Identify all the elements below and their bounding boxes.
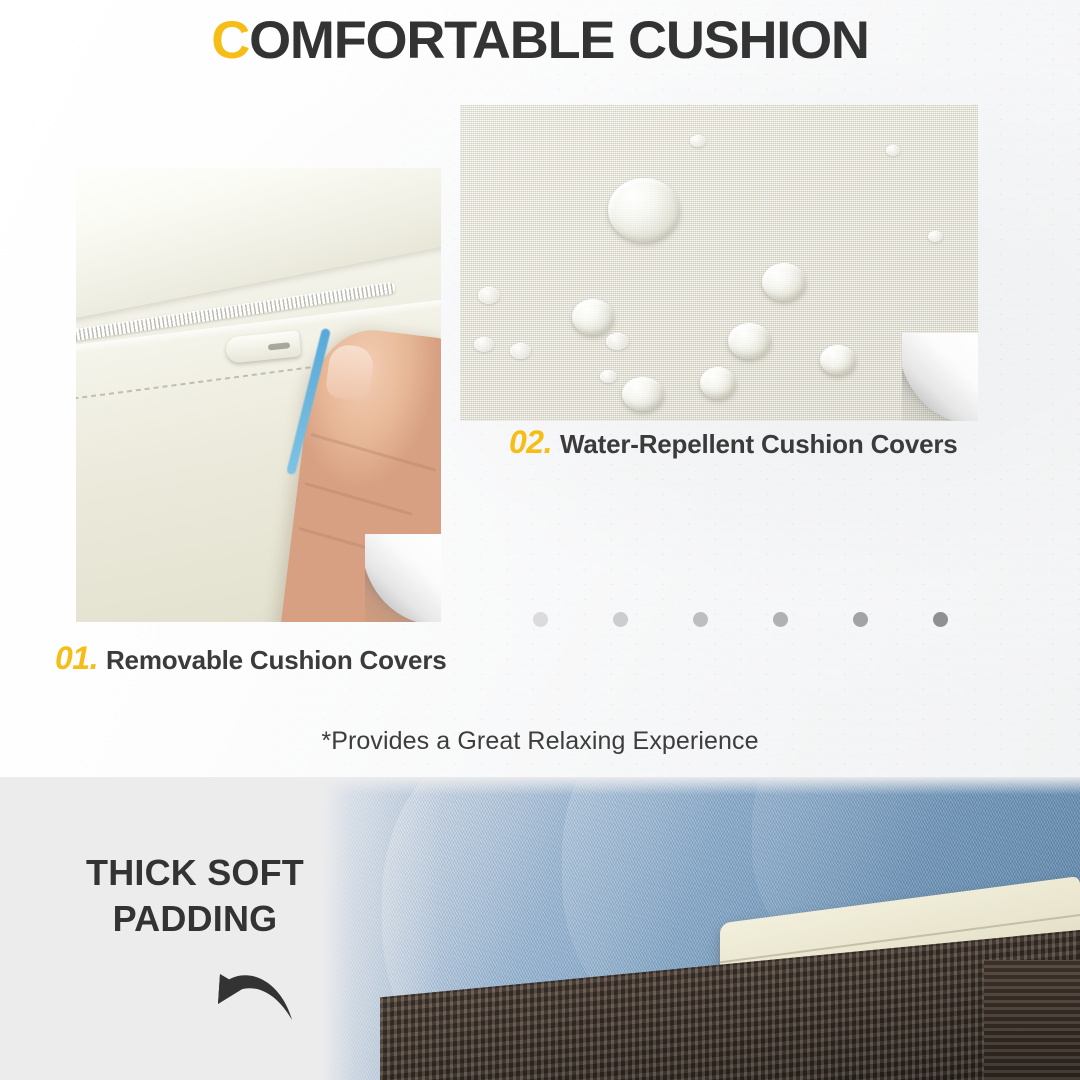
bottom-title-line-1: THICK SOFT <box>86 852 304 893</box>
water-droplet-small <box>690 135 706 147</box>
progress-dot <box>933 612 948 627</box>
denim-top-fade <box>322 777 1080 795</box>
hand-crease <box>310 433 436 472</box>
progress-dot <box>533 612 548 627</box>
hand-crease <box>299 527 392 556</box>
lifestyle-image-thick-padding <box>322 777 1080 1080</box>
water-droplet <box>728 323 771 359</box>
water-droplet-small <box>600 370 617 383</box>
water-droplet-small <box>886 145 900 156</box>
feature-image-water-repellent <box>460 105 978 421</box>
progress-dot <box>613 612 628 627</box>
progress-dots <box>533 612 953 630</box>
water-droplet <box>820 345 856 375</box>
water-droplet-small <box>510 343 531 359</box>
bottom-feature-section: THICK SOFT PADDING <box>0 777 1080 1080</box>
curved-arrow-icon <box>196 962 306 1032</box>
water-droplet-small <box>474 337 494 352</box>
progress-dot <box>693 612 708 627</box>
feature-caption-02: 02.Water-Repellent Cushion Covers <box>509 424 958 461</box>
water-droplet-small <box>478 287 500 304</box>
feature-number-01: 01. <box>55 640 98 676</box>
bottom-title: THICK SOFT PADDING <box>40 850 350 942</box>
page-title: COMFORTABLE CUSHION <box>0 14 1080 67</box>
thumbnail-detail <box>325 343 375 402</box>
water-droplet <box>700 367 736 399</box>
feature-image-removable-cover <box>76 168 441 622</box>
subnote-text: *Provides a Great Relaxing Experience <box>0 727 1080 756</box>
page-title-rest: OMFORTABLE CUSHION <box>249 11 869 70</box>
progress-dot <box>773 612 788 627</box>
top-feature-section: COMFORTABLE CUSHION <box>0 0 1080 777</box>
rattan-ottoman-side <box>984 960 1080 1080</box>
water-droplet <box>608 178 680 242</box>
hand-crease <box>304 482 412 516</box>
progress-dot <box>853 612 868 627</box>
water-droplet-small <box>942 377 959 389</box>
water-droplet <box>572 299 614 335</box>
bottom-title-line-2: PADDING <box>113 898 278 939</box>
feature-label-01: Removable Cushion Covers <box>106 645 447 675</box>
water-droplet-small <box>928 231 943 242</box>
water-droplet-small <box>606 333 629 350</box>
feature-number-02: 02. <box>509 424 552 460</box>
page-title-accent-letter: C <box>211 11 249 70</box>
water-droplet <box>762 263 806 301</box>
feature-label-02: Water-Repellent Cushion Covers <box>560 429 958 459</box>
product-feature-banner: COMFORTABLE CUSHION <box>0 0 1080 1080</box>
feature-caption-01: 01.Removable Cushion Covers <box>55 640 447 677</box>
water-droplet <box>622 377 664 411</box>
